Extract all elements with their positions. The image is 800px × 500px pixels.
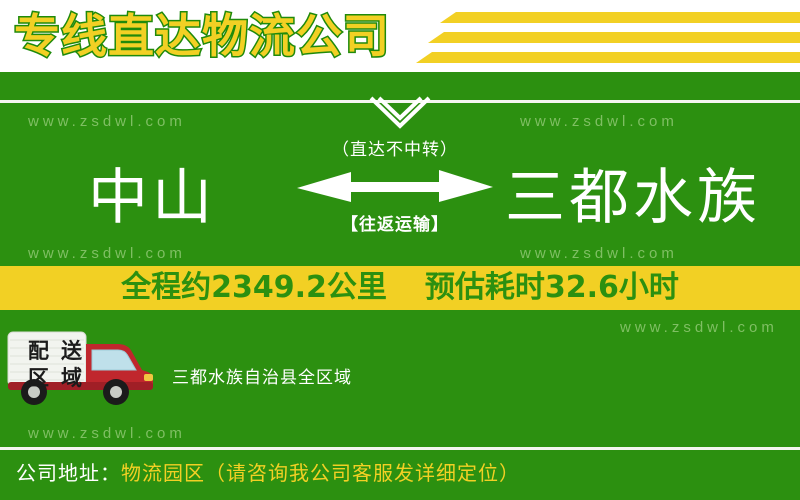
address-label: 公司地址：	[16, 461, 121, 485]
destination-city: 三都水族	[505, 160, 761, 236]
address-value: 物流园区（请咨询我公司客服发详细定位）	[121, 461, 520, 485]
watermark: www.zsdwl.com	[520, 244, 678, 264]
stripe	[416, 52, 800, 63]
header-band: 专线直达物流公司	[0, 0, 800, 72]
stripe	[428, 32, 800, 43]
watermark: www.zsdwl.com	[28, 244, 186, 264]
watermark: www.zsdwl.com	[620, 318, 778, 338]
double-arrow-icon	[295, 166, 495, 206]
stats-bar: 全程约2349.2公里 预估耗时32.6小时	[0, 266, 800, 310]
route-note-bottom: 【往返运输】	[290, 213, 500, 237]
delivery-truck-icon	[6, 330, 158, 406]
watermark: www.zsdwl.com	[28, 112, 186, 132]
stripe	[440, 12, 800, 23]
chevron-down-icon	[365, 96, 435, 136]
watermark: www.zsdwl.com	[520, 112, 678, 132]
divider-bottom	[0, 447, 800, 450]
logistics-banner: www.zsdwl.com www.zsdwl.com www.zsdwl.co…	[0, 0, 800, 500]
route-note-top: （直达不中转）	[290, 138, 500, 162]
coverage-text: 三都水族自治县全区域	[172, 366, 352, 390]
origin-city: 中山	[88, 160, 216, 236]
header-stripes	[420, 10, 800, 62]
company-address: 公司地址：物流园区（请咨询我公司客服发详细定位）	[16, 458, 520, 488]
page-title: 专线直达物流公司	[14, 8, 390, 64]
route-middle-block: （直达不中转） 【往返运输】	[290, 138, 500, 237]
duration-text: 预估耗时32.6小时	[425, 268, 679, 308]
watermark: www.zsdwl.com	[28, 424, 186, 444]
distance-text: 全程约2349.2公里	[121, 268, 387, 308]
